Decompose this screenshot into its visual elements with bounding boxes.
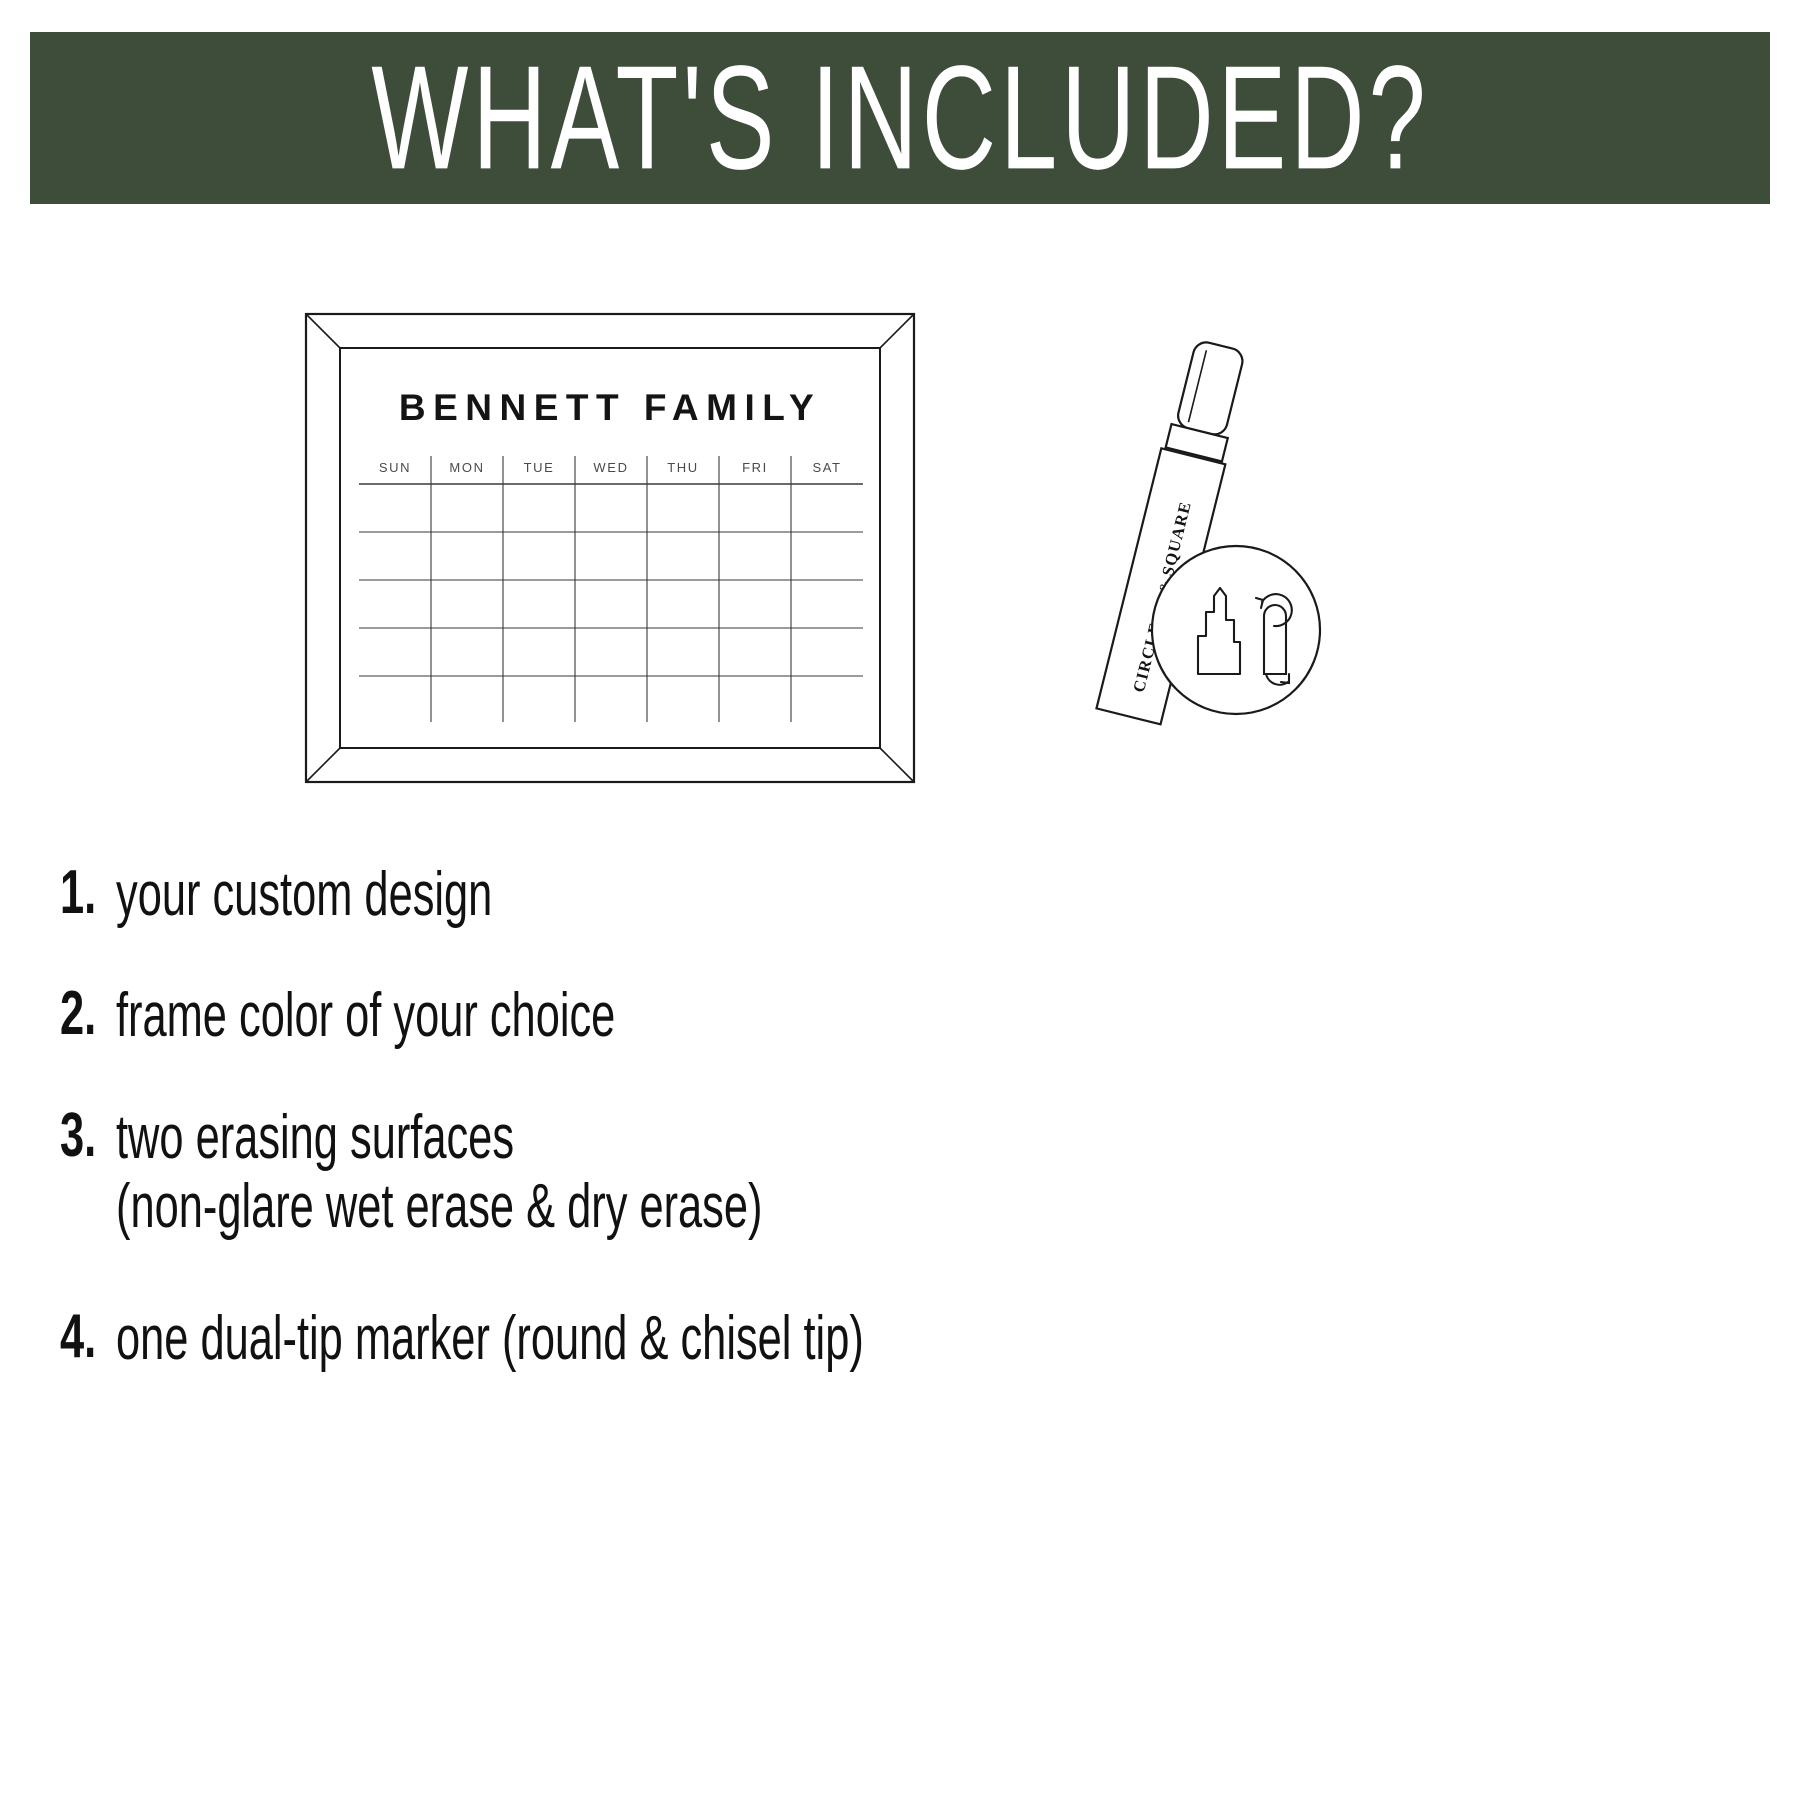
list-item-number: 4. — [60, 1304, 103, 1369]
board-title: BENNETT FAMILY — [399, 387, 821, 428]
day-header-sun: SUN — [379, 460, 411, 475]
list-item-text: frame color of your choice — [116, 981, 615, 1050]
list-item-line1: your custom design — [116, 860, 492, 929]
header-banner: WHAT'S INCLUDED? — [30, 32, 1770, 204]
day-header-fri: FRI — [742, 460, 768, 475]
day-header-sat: SAT — [812, 460, 841, 475]
page-title: WHAT'S INCLUDED? — [371, 44, 1429, 192]
day-header-mon: MON — [449, 460, 484, 475]
list-item: 4. one dual-tip marker (round & chisel t… — [60, 1304, 1760, 1373]
list-item-text: your custom design — [116, 860, 492, 929]
marker-cap — [1175, 340, 1245, 437]
list-item-line1: two erasing surfaces — [116, 1103, 514, 1172]
day-header-thu: THU — [667, 460, 699, 475]
list-item: 1. your custom design — [60, 860, 1760, 929]
list-item: 3. two erasing surfaces (non-glare wet e… — [60, 1103, 1760, 1242]
list-item-line1: one dual-tip marker (round & chisel tip) — [116, 1304, 864, 1373]
day-header-tue: TUE — [524, 460, 555, 475]
badge-circle — [1152, 546, 1320, 714]
list-item-text: two erasing surfaces (non-glare wet eras… — [116, 1103, 762, 1242]
list-item-line2: (non-glare wet erase & dry erase) — [116, 1172, 762, 1241]
marker-illustration: CIRCLE & SQUARE — [1040, 330, 1340, 750]
marker-svg: CIRCLE & SQUARE — [1040, 330, 1340, 750]
marker-tip-badge — [1152, 546, 1320, 714]
list-item: 2. frame color of your choice — [60, 981, 1760, 1050]
list-item-number: 2. — [60, 981, 103, 1046]
list-item-number: 1. — [60, 860, 103, 925]
list-item-line1: frame color of your choice — [116, 981, 615, 1050]
list-item-number: 3. — [60, 1103, 103, 1168]
calendar-frame-illustration: BENNETT FAMILY SUN MON TUE WED THU FRI S… — [300, 308, 920, 788]
included-items-list: 1. your custom design 2. frame color of … — [60, 860, 1760, 1425]
calendar-frame-svg: BENNETT FAMILY SUN MON TUE WED THU FRI S… — [300, 308, 920, 788]
day-header-wed: WED — [593, 460, 628, 475]
list-item-text: one dual-tip marker (round & chisel tip) — [116, 1304, 864, 1373]
